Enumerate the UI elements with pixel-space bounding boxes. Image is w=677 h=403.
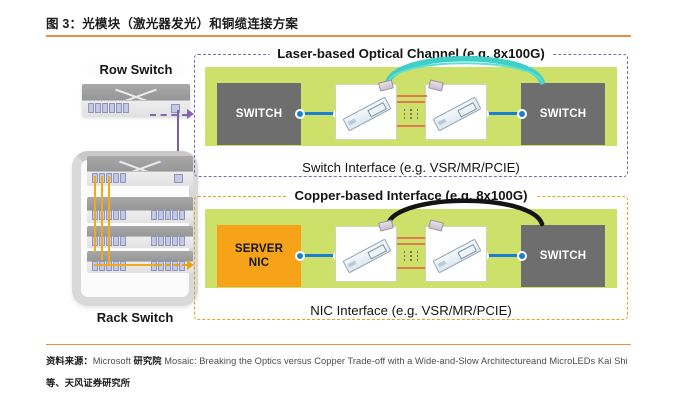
source-line2-tail: 等、天风证券研究所 <box>46 378 130 388</box>
rack-cable-2 <box>101 176 103 260</box>
source-divider <box>46 344 631 345</box>
source-line1-rest: Microsoft <box>93 356 134 366</box>
port <box>120 173 126 183</box>
device-chassis-top <box>87 156 193 172</box>
source-line1-tail: Mosaic: Breaking the Optics versus Coppe… <box>162 356 531 366</box>
device-ports-right <box>151 236 185 246</box>
copper-arrow-shaft <box>156 264 188 266</box>
copper-server-nic: SERVER NIC <box>217 225 301 287</box>
port <box>165 261 171 271</box>
title-divider <box>46 35 631 37</box>
port <box>123 103 129 113</box>
panel-optical: Laser-based Optical Channel (e.g. 8x100G… <box>194 54 628 177</box>
transceiver-module-icon <box>343 239 392 274</box>
optical-right-link-dot-a <box>517 109 527 119</box>
port <box>151 236 157 246</box>
device-chassis-top <box>82 84 190 101</box>
port <box>165 236 171 246</box>
port <box>179 236 185 246</box>
lane-dot-column <box>417 109 419 120</box>
diagram-canvas: Row Switch <box>46 44 631 340</box>
optical-left-link-dot-a <box>295 109 305 119</box>
copper-arrow-head <box>187 260 194 270</box>
port <box>113 173 119 183</box>
row-switch-device <box>82 84 190 116</box>
server-nic-line2: NIC <box>249 256 269 270</box>
optical-arrow-head <box>187 109 194 119</box>
rack-switch-label: Rack Switch <box>70 310 200 325</box>
port <box>109 103 115 113</box>
copper-lane-upper-b <box>397 243 425 245</box>
source-note: 资料来源：Microsoft 研究院 Mosaic: Breaking the … <box>46 350 646 394</box>
lane-dot-column <box>417 251 419 262</box>
panel-optical-footer: Switch Interface (e.g. VSR/MR/PCIE) <box>296 160 526 175</box>
optical-lane-ellipsis <box>401 107 421 121</box>
copper-lane-ellipsis <box>401 249 421 263</box>
copper-lane-lower <box>397 267 425 269</box>
port <box>158 210 164 220</box>
lane-dot-column <box>410 251 412 262</box>
transceiver-module-icon <box>343 97 392 132</box>
page-title: 图 3：光模块（激光器发光）和铜缆连接方案 <box>46 13 298 32</box>
optical-lane-upper <box>397 95 425 97</box>
port <box>151 210 157 220</box>
lane-dot-column <box>404 251 406 262</box>
transceiver-module-icon <box>433 239 482 274</box>
port <box>113 210 119 220</box>
rack-cable-horizontal <box>94 264 156 266</box>
rack-cable-1 <box>94 176 96 252</box>
port <box>165 210 171 220</box>
optical-fiber-cable <box>370 49 560 95</box>
port <box>113 236 119 246</box>
copper-lane-upper <box>397 237 425 239</box>
port <box>95 103 101 113</box>
lane-dot-column <box>404 109 406 120</box>
port <box>172 261 178 271</box>
port <box>116 103 122 113</box>
lane-dot-column <box>410 109 412 120</box>
port <box>179 261 185 271</box>
copper-left-link-dot-a <box>295 251 305 261</box>
device-ports-right <box>151 261 185 271</box>
source-line2-head: and MicroLEDs Kai Shi <box>531 356 628 366</box>
device-ports <box>88 103 129 113</box>
server-nic-line1: SERVER <box>235 242 283 256</box>
port <box>172 236 178 246</box>
uplink-port <box>174 174 183 183</box>
copper-right-link-dot-a <box>517 251 527 261</box>
device-ports-right <box>151 210 185 220</box>
source-prefix: 资料来源： <box>46 356 93 366</box>
optical-lane-lower <box>397 125 425 127</box>
panel-copper-footer: NIC Interface (e.g. VSR/MR/PCIE) <box>304 303 518 318</box>
rack-cable-3 <box>108 176 110 266</box>
copper-dac-cable <box>370 193 560 237</box>
figure-page: 图 3：光模块（激光器发光）和铜缆连接方案 Row Switch <box>0 0 677 403</box>
optical-left-switch: SWITCH <box>217 83 301 145</box>
source-institute: 研究院 <box>134 356 162 366</box>
optical-arrow-shaft <box>150 114 188 116</box>
port <box>172 210 178 220</box>
port <box>158 261 164 271</box>
row-switch-label: Row Switch <box>87 62 185 77</box>
optical-lane-upper-b <box>397 101 425 103</box>
port <box>120 210 126 220</box>
port <box>88 103 94 113</box>
panel-copper: Copper-based Interface (e.g. 8x100G) SER… <box>194 196 628 320</box>
port <box>179 210 185 220</box>
port <box>120 236 126 246</box>
port <box>102 103 108 113</box>
port <box>158 236 164 246</box>
transceiver-module-icon <box>433 97 482 132</box>
